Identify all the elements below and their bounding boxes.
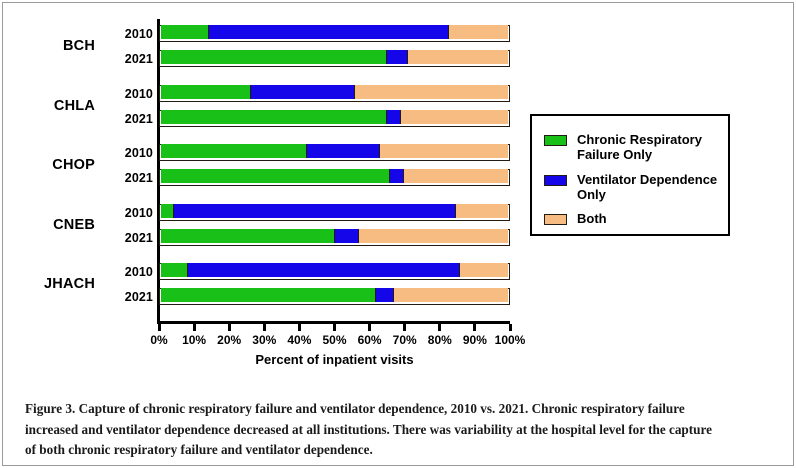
bar-segment-blue (390, 169, 404, 183)
bar-segment-blue (335, 229, 359, 243)
legend-item: Chronic Respiratory Failure Only (544, 132, 702, 162)
year-label: 2010 (99, 27, 153, 41)
bar-segment-blue (387, 50, 408, 64)
bar-segment-green (161, 229, 335, 243)
year-label: 2010 (99, 206, 153, 220)
bar-row (159, 110, 510, 127)
x-axis-tick (228, 324, 231, 331)
bar-segment-orange (456, 204, 508, 218)
bar-segment-blue (307, 144, 380, 158)
legend-item: Both (544, 211, 607, 226)
year-label: 2021 (99, 231, 153, 245)
bar-segment-orange (394, 288, 509, 302)
bar-row (159, 169, 510, 186)
bar-segment-green (161, 50, 387, 64)
legend-item-label: Ventilator Dependence Only (577, 172, 717, 202)
legend-swatch-orange (544, 214, 567, 225)
bar-segment-orange (404, 169, 508, 183)
bar-row (159, 263, 510, 280)
x-axis-tick (509, 324, 512, 331)
bar-segment-orange (359, 229, 509, 243)
year-label: 2010 (99, 265, 153, 279)
x-axis-tick (403, 324, 406, 331)
legend-item-label: Both (577, 211, 607, 226)
bar-segment-orange (380, 144, 509, 158)
group-label-bch: BCH (11, 38, 95, 54)
bar-segment-orange (355, 85, 508, 99)
bar-segment-green (161, 288, 377, 302)
year-label: 2010 (99, 87, 153, 101)
bar-row (159, 85, 510, 102)
x-axis-tick (298, 324, 301, 331)
bar-segment-orange (449, 25, 508, 39)
x-axis-tick (193, 324, 196, 331)
group-label-chop: CHOP (11, 157, 95, 173)
bar-segment-orange (401, 110, 509, 124)
bar-row (159, 229, 510, 246)
bar-segment-green (161, 85, 251, 99)
x-axis-tick (473, 324, 476, 331)
bar-segment-blue (188, 263, 459, 277)
year-label: 2021 (99, 112, 153, 126)
x-axis-tick (263, 324, 266, 331)
x-axis-tick (333, 324, 336, 331)
bar-segment-green (161, 144, 307, 158)
bar-row (159, 204, 510, 221)
bar-segment-blue (209, 25, 449, 39)
bar-segment-blue (174, 204, 456, 218)
bar-row (159, 25, 510, 42)
bar-row (159, 50, 510, 67)
year-label: 2010 (99, 146, 153, 160)
bar-row (159, 288, 510, 305)
bar-segment-orange (460, 263, 509, 277)
figure-caption: Figure 3. Capture of chronic respiratory… (25, 399, 725, 461)
bar-plot: 0%10%20%30%40%50%60%70%80%90%100% (159, 19, 510, 321)
x-axis-tick (438, 324, 441, 331)
group-label-jhach: JHACH (11, 276, 95, 292)
x-axis-tick (368, 324, 371, 331)
bar-segment-green (161, 25, 210, 39)
legend-swatch-blue (544, 175, 567, 186)
bar-segment-green (161, 263, 189, 277)
bar-segment-orange (408, 50, 509, 64)
year-label: 2021 (99, 171, 153, 185)
figure-frame: 0%10%20%30%40%50%60%70%80%90%100% Percen… (2, 2, 794, 466)
legend-swatch-green (544, 135, 567, 146)
chart-legend: Chronic Respiratory Failure OnlyVentilat… (530, 114, 730, 236)
x-axis-tick-label: 100% (487, 333, 533, 347)
bar-segment-green (161, 169, 391, 183)
bar-segment-blue (387, 110, 401, 124)
year-label: 2021 (99, 290, 153, 304)
bar-row (159, 144, 510, 161)
group-label-chla: CHLA (11, 98, 95, 114)
bar-segment-blue (251, 85, 355, 99)
x-axis-tick (158, 324, 161, 331)
bar-segment-blue (376, 288, 393, 302)
legend-item: Ventilator Dependence Only (544, 172, 717, 202)
bar-segment-green (161, 204, 175, 218)
x-axis-title: Percent of inpatient visits (159, 352, 510, 367)
group-label-cneb: CNEB (11, 217, 95, 233)
legend-item-label: Chronic Respiratory Failure Only (577, 132, 702, 162)
bar-segment-green (161, 110, 387, 124)
year-label: 2021 (99, 52, 153, 66)
